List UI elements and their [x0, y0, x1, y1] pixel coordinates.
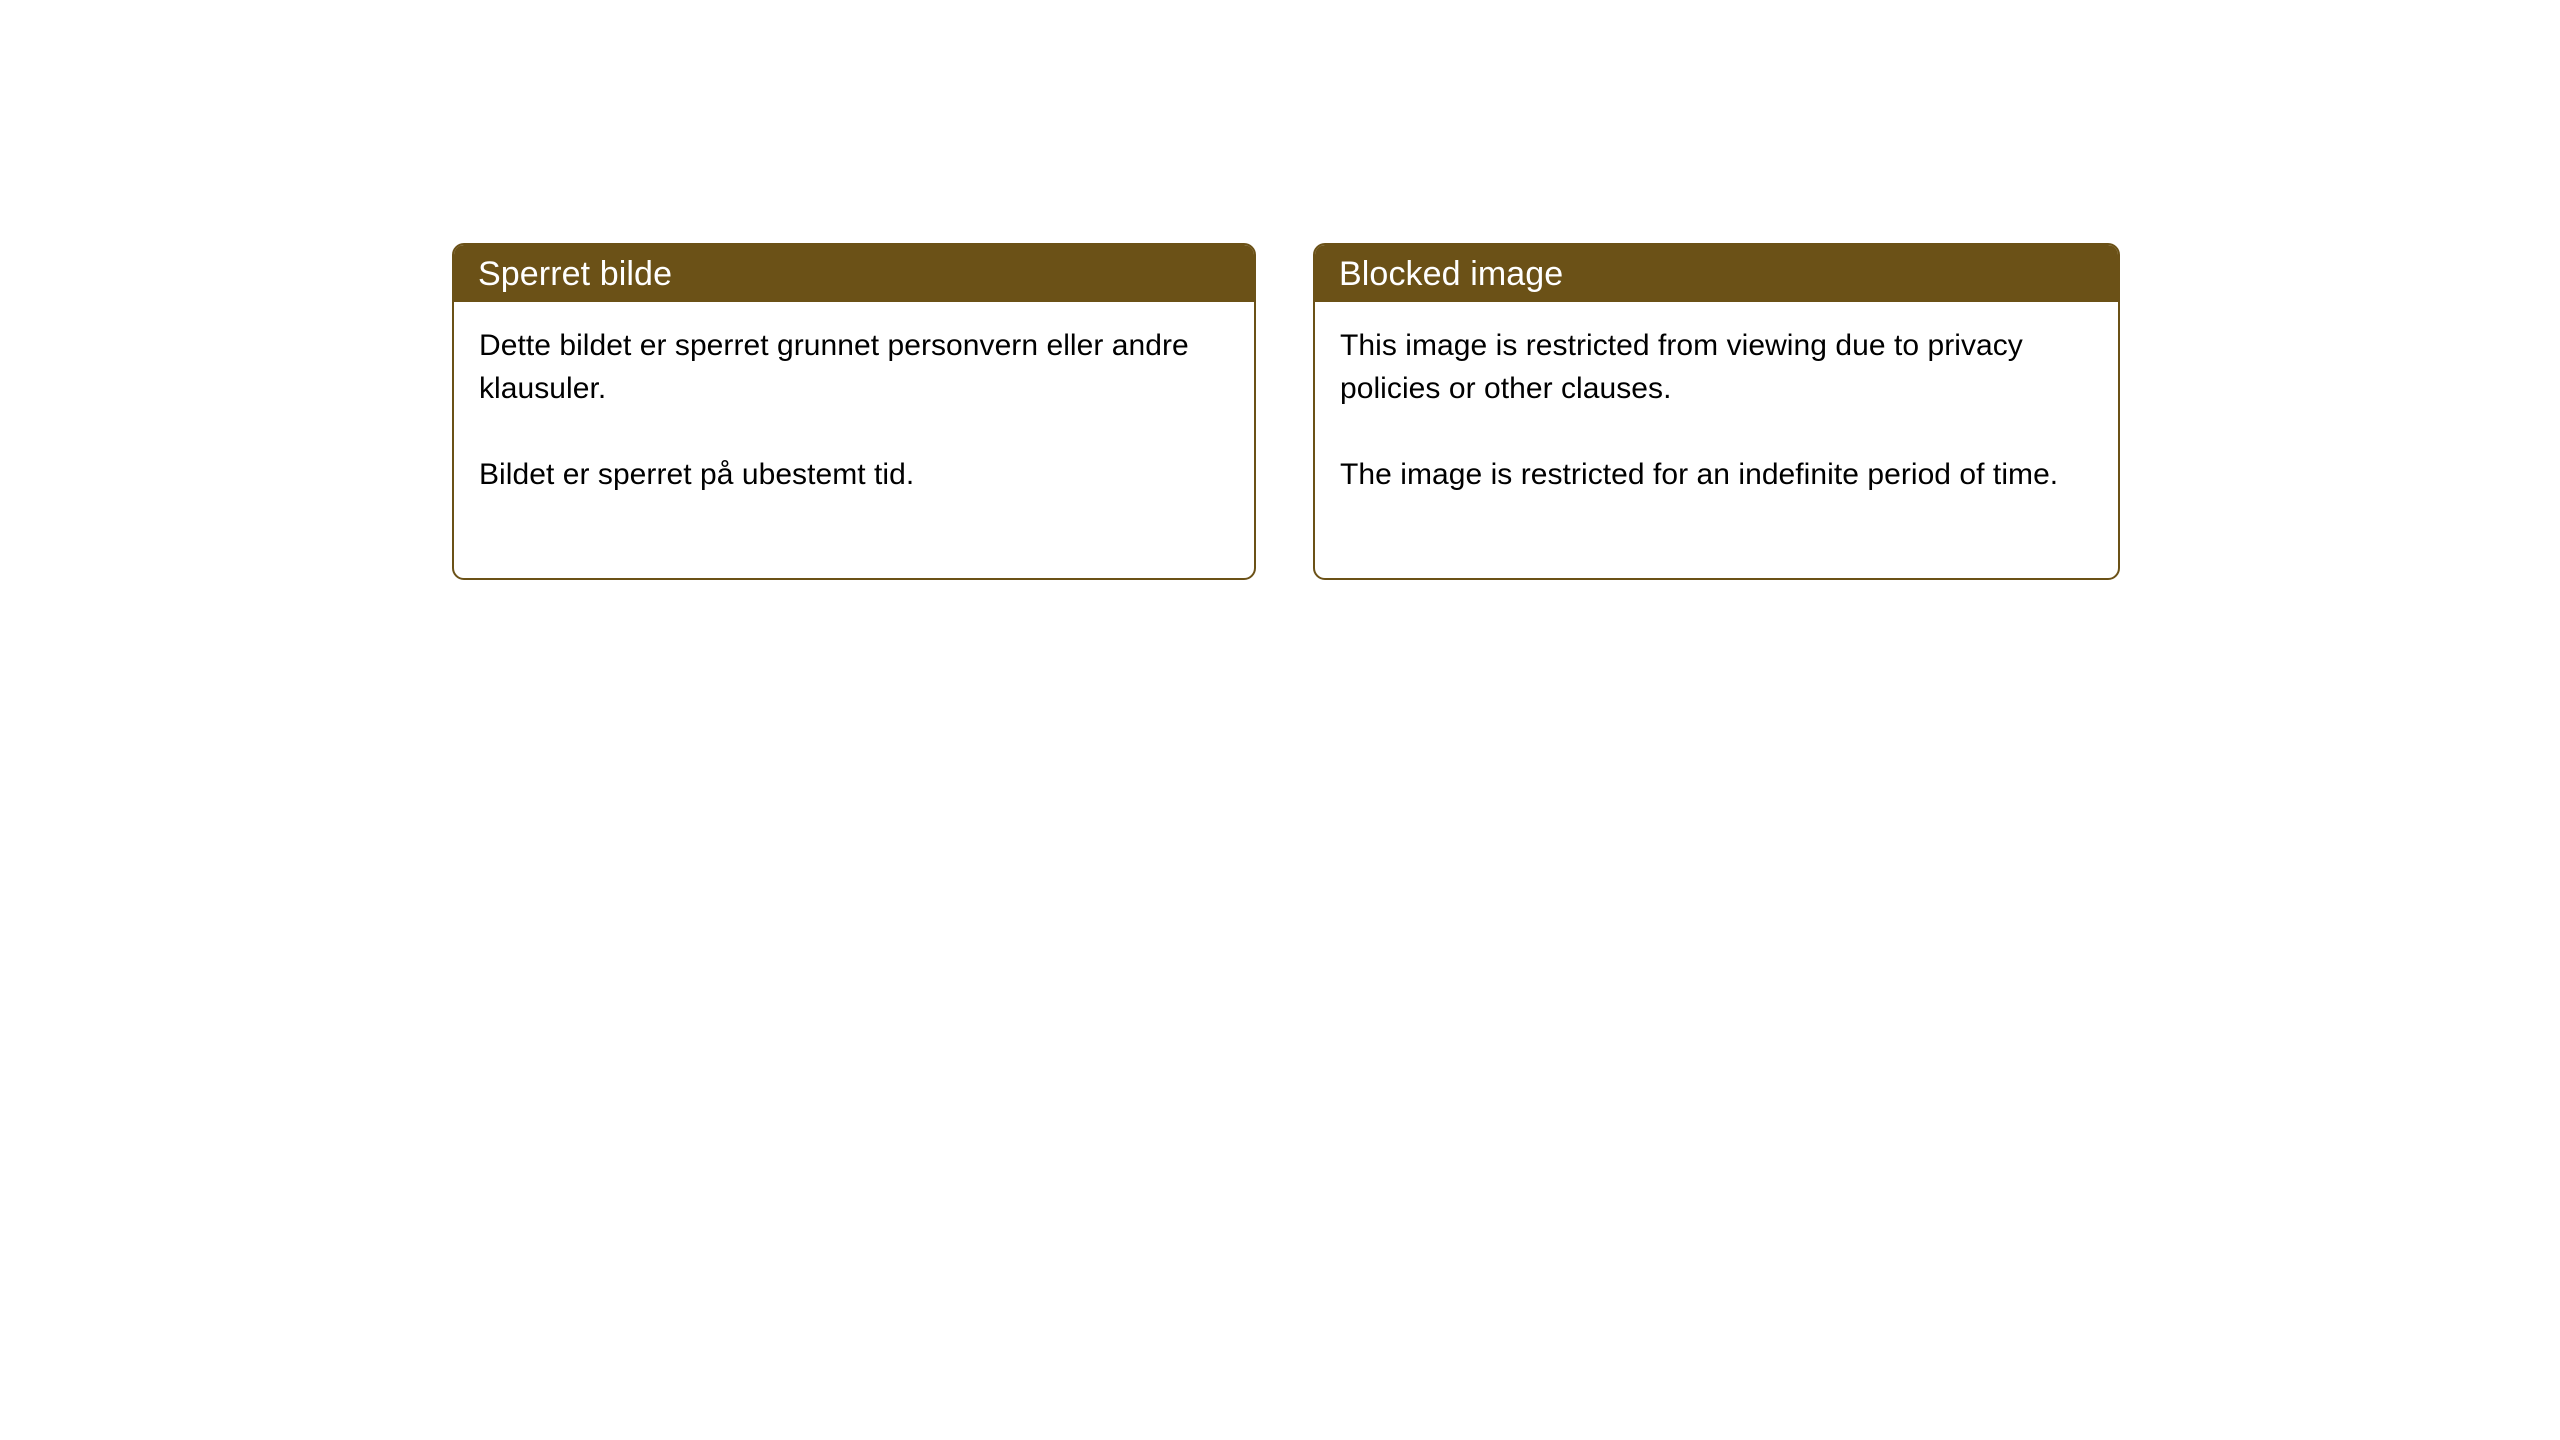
card-header-norwegian: Sperret bilde [454, 245, 1254, 302]
blocked-image-notice-card-norwegian: Sperret bilde Dette bildet er sperret gr… [452, 243, 1256, 580]
card-paragraph-secondary-norwegian: Bildet er sperret på ubestemt tid. [479, 453, 1234, 496]
card-body-norwegian: Dette bildet er sperret grunnet personve… [454, 302, 1254, 496]
card-paragraph-primary-english: This image is restricted from viewing du… [1340, 324, 2098, 410]
card-body-english: This image is restricted from viewing du… [1315, 302, 2118, 496]
card-title-english: Blocked image [1339, 254, 1563, 294]
card-paragraph-primary-norwegian: Dette bildet er sperret grunnet personve… [479, 324, 1234, 410]
card-title-norwegian: Sperret bilde [478, 254, 672, 294]
blocked-image-notice-card-english: Blocked image This image is restricted f… [1313, 243, 2120, 580]
card-paragraph-secondary-english: The image is restricted for an indefinit… [1340, 453, 2098, 496]
card-header-english: Blocked image [1315, 245, 2118, 302]
